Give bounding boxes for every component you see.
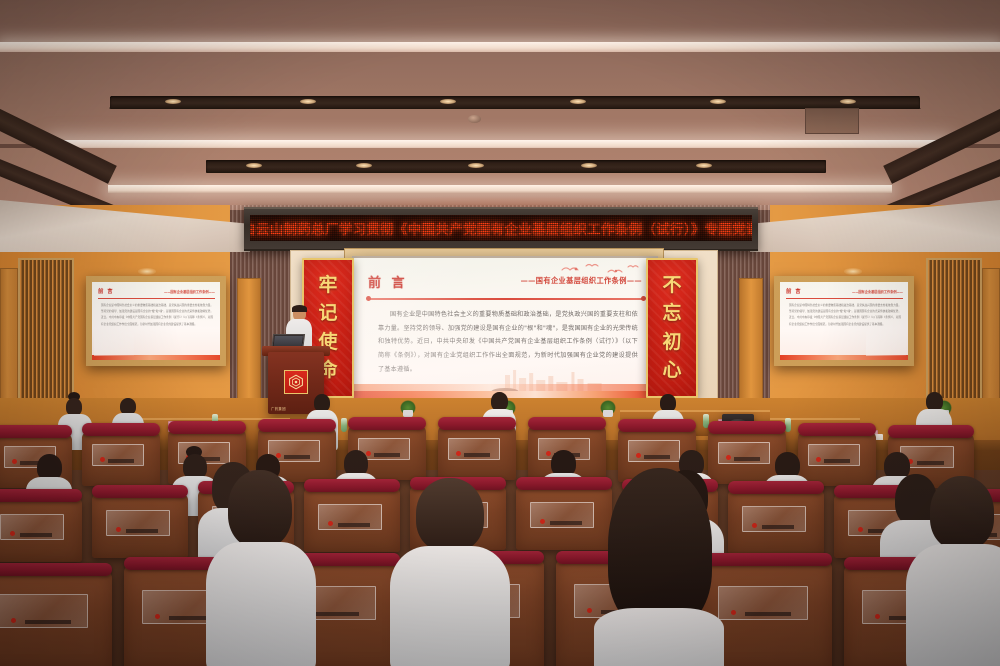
plant-pot-3 [603, 410, 613, 417]
side-monitor-right: 前 言 ——国有企业基层组织工作条例—— 国有企业是中国特色社会主义的重要物质基… [774, 276, 914, 366]
slide-footer-soft [354, 384, 656, 391]
couplet-right-char-4: 心 [662, 361, 681, 380]
slide-divider [368, 298, 644, 300]
couplet-right-char-1: 不 [662, 276, 681, 295]
water-bottle-5 [785, 418, 791, 432]
water-bottle-3 [341, 418, 347, 432]
seat-card-b6 [530, 502, 594, 528]
couplet-left-char-1: 牢 [318, 276, 337, 295]
audience-person-21 [906, 476, 1000, 666]
monitor-light-right [844, 268, 862, 275]
projection-screen: 前 言 ——国有企业基层组织工作条例—— 国有企业是中国特色社会主义的重要物质基… [352, 256, 658, 402]
led-banner-screen: 白云山制药总厂学习贯彻《中国共产党国有企业基层组织工作条例（试行）》专题党课 [250, 215, 752, 241]
seat-b8[interactable] [728, 490, 824, 554]
side-monitor-right-glare [866, 330, 906, 356]
seat-b1[interactable] [0, 498, 82, 562]
podium-emblem-icon [284, 370, 308, 394]
side-monitor-left-subtitle: ——国有企业基层组织工作条例—— [164, 289, 215, 294]
slide-header: 前 言 ——国有企业基层组织工作条例—— [368, 272, 644, 294]
side-monitor-right-title: 前 言 [786, 287, 802, 295]
ceiling-cove-light-3 [108, 185, 892, 193]
conference-hall-photo: 白云山制药总厂学习贯彻《中国共产党国有企业基层组织工作条例（试行）》专题党课 前… [0, 0, 1000, 666]
led-banner-text: 白云山制药总厂学习贯彻《中国共产党国有企业基层组织工作条例（试行）》专题党课 [250, 218, 752, 238]
side-monitor-left-divider [98, 298, 215, 299]
seat-card-b2 [106, 510, 170, 536]
speaker-hair [292, 305, 307, 312]
couplet-right-char-2: 忘 [662, 304, 681, 323]
acoustic-panel-right [926, 258, 982, 402]
ceiling-lower-panel [0, 148, 1000, 210]
seat-card-a2 [92, 444, 144, 466]
couplet-right-char-3: 初 [662, 333, 681, 352]
slide-title: 前 言 [368, 272, 408, 291]
couplet-left-char-2: 记 [318, 304, 337, 323]
seat-card-b8 [742, 506, 806, 532]
podium-sub-text: 广药集团 [271, 406, 286, 411]
ceiling-back-panel [0, 0, 1000, 44]
audience-person-20 [594, 468, 724, 666]
ceiling-light-strip-1 [110, 96, 921, 109]
seat-card-a6 [448, 438, 500, 460]
acoustic-panel-left [18, 258, 74, 402]
seat-card-a9 [718, 442, 770, 464]
slide-subtitle: ——国有企业基层组织工作条例—— [521, 276, 642, 286]
audience-person-19 [390, 478, 510, 666]
led-banner: 白云山制药总厂学习贯彻《中国共产党国有企业基层组织工作条例（试行）》专题党课 [244, 207, 758, 251]
ceiling-cove-light-1 [0, 42, 1000, 52]
plant-pot-1 [403, 410, 413, 417]
audience-person-20-hair [608, 468, 712, 628]
side-monitor-left-title: 前 言 [98, 287, 114, 295]
monitor-light-left [138, 268, 156, 275]
seat-card-b4 [318, 504, 382, 530]
seat-c1[interactable] [0, 572, 112, 666]
seat-b4[interactable] [304, 488, 400, 552]
side-monitor-right-subtitle: ——国有企业基层组织工作条例—— [852, 289, 903, 294]
side-monitor-left-glare [94, 330, 134, 356]
smoke-detector-icon [468, 115, 481, 123]
seat-a6[interactable] [438, 426, 516, 480]
side-monitor-right-divider [786, 298, 903, 299]
side-monitor-left-screen: 前 言 ——国有企业基层组织工作条例—— 国有企业是中国特色社会主义的重要物质基… [92, 282, 220, 360]
ceiling-light-strip-2 [206, 160, 826, 173]
side-monitor-left: 前 言 ——国有企业基层组织工作条例—— 国有企业是中国特色社会主义的重要物质基… [86, 276, 226, 366]
side-monitor-right-body: 国有企业是中国特色社会主义的重要物质基础和政治基础，是党执政兴国的重要支柱和依靠… [789, 303, 901, 328]
seat-card-a10 [808, 444, 860, 466]
seat-a2[interactable] [82, 432, 160, 486]
side-monitor-left-body: 国有企业是中国特色社会主义的重要物质基础和政治基础，是党执政兴国的重要支柱和依靠… [101, 303, 213, 328]
seat-card-c1 [0, 594, 88, 628]
seat-card-c6 [718, 586, 808, 620]
audience-person-18 [206, 470, 316, 666]
seat-card-b1 [0, 514, 64, 540]
side-monitor-right-screen: 前 言 ——国有企业基层组织工作条例—— 国有企业是中国特色社会主义的重要物质基… [780, 282, 908, 360]
ceiling-air-vent [805, 108, 859, 134]
couplet-banner-right: 不 忘 初 心 [646, 258, 698, 398]
seat-b2[interactable] [92, 494, 188, 558]
